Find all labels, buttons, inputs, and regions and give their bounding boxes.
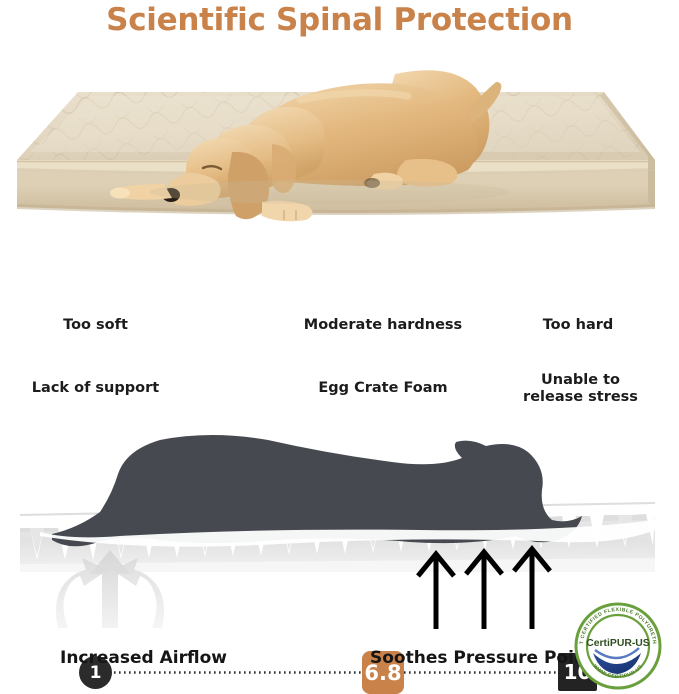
scale-label-hard-line1: Unable to [498, 372, 663, 389]
pressure-arrow-3 [514, 549, 550, 629]
scale-dotted-line [104, 669, 574, 676]
product-photo [0, 52, 679, 297]
scale-label-moderate-top: Moderate hardness [283, 317, 483, 333]
scale-label-hard-top: Too hard [498, 317, 658, 333]
page-title: Scientific Spinal Protection [0, 2, 679, 38]
hardness-scale: Too soft 1 Lack of support Moderate hard… [0, 312, 679, 418]
dog-silhouette [52, 435, 582, 546]
scale-label-hard-bottom: Unable to release stress [498, 372, 663, 405]
scale-label-moderate-bottom: Egg Crate Foam [293, 380, 473, 397]
scale-label-soft-top: Too soft [18, 317, 173, 333]
certipur-us-badge: COMPLIANT CERTIFIED FLEXIBLE POLYURETHAN… [573, 601, 670, 691]
airflow-caption: Increased Airflow [60, 648, 227, 668]
scale-label-hard-line2: release stress [498, 389, 663, 406]
badge-brand-name: CertiPUR-US [586, 638, 650, 649]
foam-cross-section-diagram [0, 424, 679, 629]
pressure-caption: Soothes Pressure Points [370, 648, 604, 668]
pressure-arrows [418, 549, 550, 629]
infographic-page: Scientific Spinal Protection [0, 0, 679, 693]
scale-label-soft-bottom: Lack of support [8, 380, 183, 397]
pressure-arrow-2 [466, 552, 502, 629]
